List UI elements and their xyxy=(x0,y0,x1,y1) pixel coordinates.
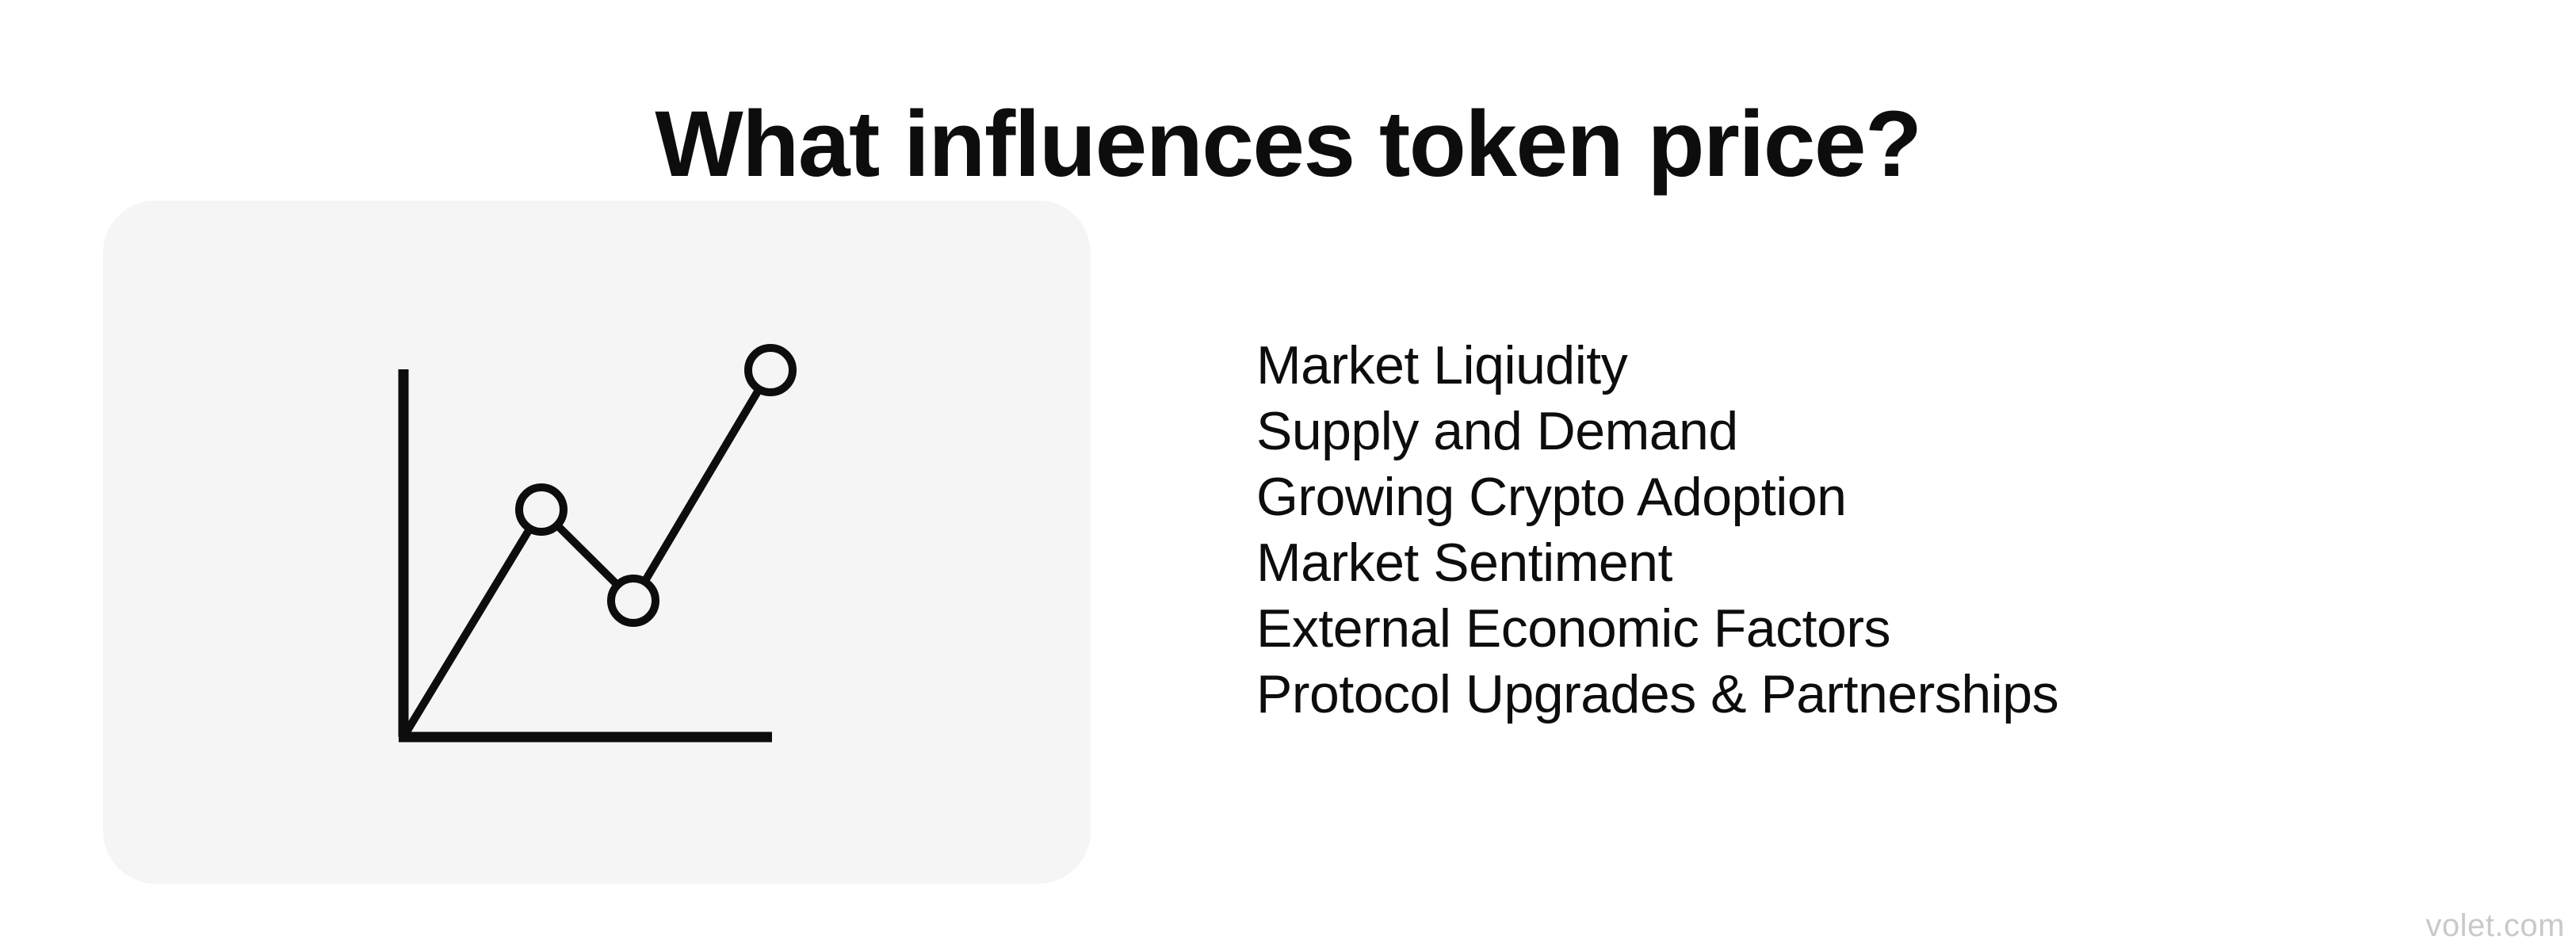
chart-data-point-marker xyxy=(611,579,655,623)
factors-list: Market Liqiudity Supply and Demand Growi… xyxy=(1256,333,2493,728)
chart-data-point-marker xyxy=(519,487,564,532)
watermark: volet.com xyxy=(2425,910,2565,941)
illustration-card xyxy=(103,201,1091,884)
list-item: Market Sentiment xyxy=(1256,530,2493,596)
slide-canvas: What influences token price? Market Liqi… xyxy=(0,0,2576,951)
chart-data-point-marker xyxy=(748,348,793,392)
list-item: Supply and Demand xyxy=(1256,399,2493,464)
list-item: Growing Crypto Adoption xyxy=(1256,464,2493,530)
list-item: Protocol Upgrades & Partnerships xyxy=(1256,662,2493,728)
list-item: External Economic Factors xyxy=(1256,596,2493,662)
page-title: What influences token price? xyxy=(0,97,2576,191)
line-chart-icon xyxy=(103,201,1091,884)
chart-data-line xyxy=(403,370,770,737)
list-item: Market Liqiudity xyxy=(1256,333,2493,399)
